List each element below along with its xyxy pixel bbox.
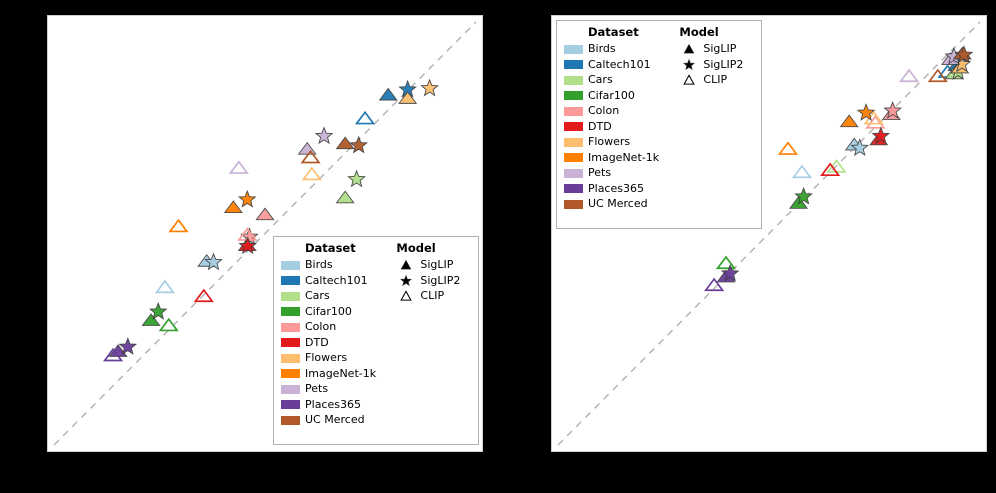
legend-dataset-label: Flowers: [305, 352, 347, 364]
legend-dataset-item[interactable]: Caltech101: [281, 273, 396, 289]
dataset-color-swatch-flowers: [564, 138, 583, 147]
legend-dataset-label: Flowers: [588, 136, 630, 148]
figure-root: Dataset BirdsCaltech101CarsCifar100Colon…: [0, 0, 996, 493]
legend-dataset-rows: BirdsCaltech101CarsCifar100ColonDTDFlowe…: [564, 42, 679, 213]
dataset-color-swatch-imagenet-1k: [281, 369, 300, 378]
legend-dataset-label: Caltech101: [588, 59, 651, 71]
legend-dataset-item[interactable]: DTD: [564, 119, 679, 135]
star-filled-icon: [396, 275, 415, 287]
dataset-color-swatch-imagenet-1k: [564, 153, 583, 162]
legend-dataset-label: Cifar100: [588, 90, 635, 102]
legend-dataset-item[interactable]: Birds: [281, 258, 396, 274]
scatter-point[interactable]: [256, 208, 273, 220]
scatter-point[interactable]: [357, 112, 374, 123]
dataset-color-swatch-pets: [281, 385, 300, 394]
legend-dataset-title: Dataset: [564, 26, 679, 39]
legend-dataset-label: Cars: [588, 74, 613, 86]
legend-dataset-label: Places365: [305, 399, 361, 411]
scatter-point[interactable]: [239, 191, 255, 206]
dataset-color-swatch-cifar100: [281, 307, 300, 316]
scatter-point[interactable]: [299, 143, 316, 155]
triangle-filled-icon: [396, 259, 415, 271]
legend-dataset-item[interactable]: Flowers: [564, 135, 679, 151]
legend-model-item[interactable]: SigLIP2: [396, 273, 470, 289]
scatter-point[interactable]: [380, 88, 397, 100]
legend-dataset-label: Colon: [588, 105, 619, 117]
legend-left: Dataset BirdsCaltech101CarsCifar100Colon…: [273, 236, 479, 445]
scatter-point[interactable]: [170, 220, 187, 231]
legend-dataset-label: Cifar100: [305, 306, 352, 318]
legend-model-label: CLIP: [420, 290, 444, 302]
scatter-point[interactable]: [793, 166, 810, 177]
legend-dataset-item[interactable]: DTD: [281, 335, 396, 351]
legend-model-column-right: Model SigLIPSigLIP2CLIP: [679, 26, 753, 223]
dataset-color-swatch-cifar100: [564, 91, 583, 100]
legend-model-rows: SigLIPSigLIP2CLIP: [396, 258, 470, 305]
legend-dataset-label: Birds: [305, 259, 333, 271]
legend-dataset-label: Places365: [588, 183, 644, 195]
legend-model-title: Model: [679, 26, 753, 39]
legend-dataset-item[interactable]: Places365: [281, 397, 396, 413]
legend-dataset-label: Cars: [305, 290, 330, 302]
dataset-color-swatch-caltech101: [564, 60, 583, 69]
scatter-point[interactable]: [780, 143, 797, 154]
dataset-color-swatch-places365: [564, 184, 583, 193]
triangle-open-icon: [396, 290, 415, 302]
legend-model-rows: SigLIPSigLIP2CLIP: [679, 42, 753, 89]
legend-dataset-label: Pets: [305, 383, 328, 395]
legend-dataset-item[interactable]: Cifar100: [564, 88, 679, 104]
legend-dataset-item[interactable]: Flowers: [281, 351, 396, 367]
legend-model-title: Model: [396, 242, 470, 255]
scatter-point[interactable]: [303, 168, 320, 179]
scatter-point[interactable]: [230, 162, 247, 173]
legend-dataset-label: DTD: [588, 121, 612, 133]
legend-dataset-item[interactable]: Pets: [281, 382, 396, 398]
legend-dataset-item[interactable]: Places365: [564, 181, 679, 197]
legend-dataset-label: Caltech101: [305, 275, 368, 287]
dataset-color-swatch-colon: [281, 323, 300, 332]
scatter-point[interactable]: [351, 137, 367, 152]
legend-dataset-label: Colon: [305, 321, 336, 333]
legend-dataset-item[interactable]: ImageNet-1k: [281, 366, 396, 382]
dataset-color-swatch-birds: [564, 45, 583, 54]
dataset-color-swatch-pets: [564, 169, 583, 178]
dataset-color-swatch-places365: [281, 400, 300, 409]
triangle-filled-icon: [679, 43, 698, 55]
scatter-point[interactable]: [421, 80, 437, 95]
legend-dataset-column-right: Dataset BirdsCaltech101CarsCifar100Colon…: [564, 26, 679, 223]
legend-right: Dataset BirdsCaltech101CarsCifar100Colon…: [556, 20, 762, 229]
legend-dataset-label: ImageNet-1k: [588, 152, 659, 164]
legend-model-label: SigLIP2: [703, 59, 743, 71]
dataset-color-swatch-cars: [281, 292, 300, 301]
legend-model-label: SigLIP: [420, 259, 453, 271]
legend-dataset-item[interactable]: Caltech101: [564, 57, 679, 73]
scatter-point[interactable]: [901, 70, 918, 81]
legend-dataset-item[interactable]: ImageNet-1k: [564, 150, 679, 166]
triangle-open-icon: [679, 74, 698, 86]
scatter-point[interactable]: [348, 171, 364, 186]
dataset-color-swatch-dtd: [281, 338, 300, 347]
dataset-color-swatch-uc-merced: [281, 416, 300, 425]
legend-dataset-item[interactable]: Colon: [564, 104, 679, 120]
legend-dataset-label: DTD: [305, 337, 329, 349]
legend-dataset-label: Pets: [588, 167, 611, 179]
scatter-point[interactable]: [337, 191, 354, 203]
scatter-panel-right: Dataset BirdsCaltech101CarsCifar100Colon…: [551, 15, 987, 452]
scatter-point[interactable]: [316, 128, 332, 143]
legend-model-label: SigLIP: [703, 43, 736, 55]
legend-dataset-title: Dataset: [281, 242, 396, 255]
legend-dataset-label: ImageNet-1k: [305, 368, 376, 380]
dataset-color-swatch-birds: [281, 261, 300, 270]
legend-dataset-rows: BirdsCaltech101CarsCifar100ColonDTDFlowe…: [281, 258, 396, 429]
legend-dataset-item[interactable]: Colon: [281, 320, 396, 336]
legend-dataset-item[interactable]: Pets: [564, 166, 679, 182]
dataset-color-swatch-flowers: [281, 354, 300, 363]
dataset-color-swatch-cars: [564, 76, 583, 85]
star-filled-icon: [679, 59, 698, 71]
legend-dataset-label: UC Merced: [305, 414, 365, 426]
scatter-point[interactable]: [841, 115, 858, 127]
legend-dataset-item[interactable]: UC Merced: [564, 197, 679, 213]
legend-dataset-item[interactable]: Birds: [564, 42, 679, 58]
scatter-point[interactable]: [157, 281, 174, 292]
legend-dataset-item[interactable]: UC Merced: [281, 413, 396, 429]
scatter-point[interactable]: [399, 92, 416, 104]
scatter-point[interactable]: [858, 104, 874, 119]
legend-model-item[interactable]: SigLIP: [679, 42, 753, 58]
dataset-color-swatch-caltech101: [281, 276, 300, 285]
scatter-panel-left: Dataset BirdsCaltech101CarsCifar100Colon…: [47, 15, 483, 452]
legend-model-label: CLIP: [703, 74, 727, 86]
legend-dataset-item[interactable]: Cars: [281, 289, 396, 305]
legend-dataset-label: UC Merced: [588, 198, 648, 210]
legend-model-item[interactable]: CLIP: [679, 73, 753, 89]
legend-model-item[interactable]: SigLIP: [396, 258, 470, 274]
legend-dataset-item[interactable]: Cifar100: [281, 304, 396, 320]
scatter-point[interactable]: [718, 257, 735, 268]
legend-model-label: SigLIP2: [420, 275, 460, 287]
legend-dataset-label: Birds: [588, 43, 616, 55]
dataset-color-swatch-dtd: [564, 122, 583, 131]
legend-dataset-column-left: Dataset BirdsCaltech101CarsCifar100Colon…: [281, 242, 396, 439]
scatter-point[interactable]: [225, 201, 242, 213]
dataset-color-swatch-colon: [564, 107, 583, 116]
legend-model-item[interactable]: SigLIP2: [679, 57, 753, 73]
dataset-color-swatch-uc-merced: [564, 200, 583, 209]
legend-model-column-left: Model SigLIPSigLIP2CLIP: [396, 242, 470, 439]
legend-dataset-item[interactable]: Cars: [564, 73, 679, 89]
legend-model-item[interactable]: CLIP: [396, 289, 470, 305]
